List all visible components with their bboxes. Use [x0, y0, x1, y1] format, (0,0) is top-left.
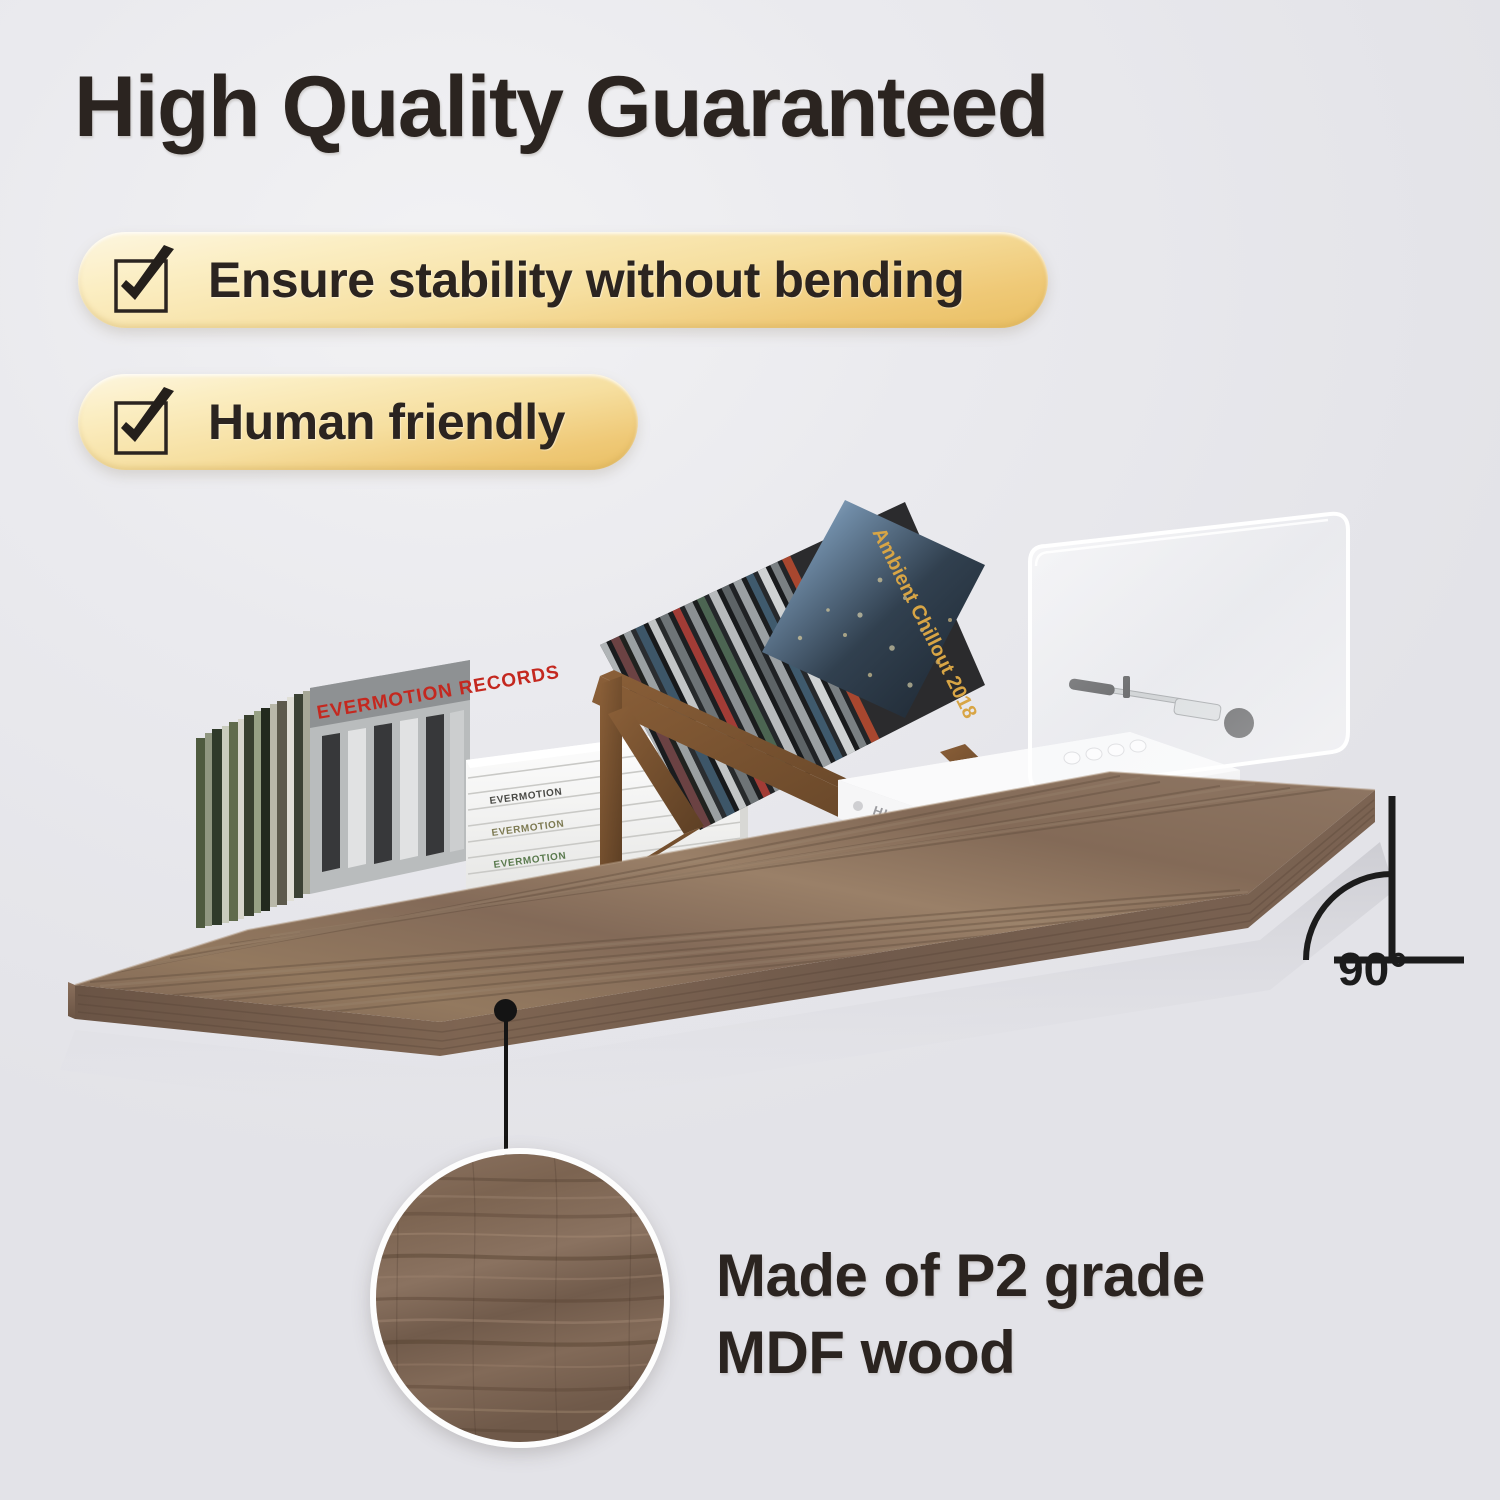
- feature-pill-human-friendly: Human friendly: [78, 374, 638, 470]
- page-title: High Quality Guaranteed: [74, 62, 1404, 152]
- callout-caption: Made of P2 grade MDF wood: [716, 1238, 1356, 1392]
- wood-grain-closeup-image: [376, 1154, 664, 1442]
- callout-caption-line-1: Made of P2 grade: [716, 1238, 1356, 1315]
- angle-label: 90°: [1338, 942, 1408, 996]
- product-scene: EVERMOTION RECORDS EVERMOTION EVERMOTION…: [0, 470, 1500, 1110]
- acrylic-dust-cover: [1030, 514, 1348, 790]
- wood-grain-magnifier: [370, 1148, 670, 1448]
- callout-caption-line-2: MDF wood: [716, 1315, 1356, 1392]
- feature-pill-stability: Ensure stability without bending: [78, 232, 1048, 328]
- floating-shelf-illustration: EVERMOTION RECORDS EVERMOTION EVERMOTION…: [0, 470, 1500, 1110]
- checkbox-checked-icon: [108, 243, 182, 317]
- feature-label-stability: Ensure stability without bending: [208, 251, 964, 309]
- feature-label-human-friendly: Human friendly: [208, 393, 565, 451]
- checkbox-checked-icon: [108, 385, 182, 459]
- callout-leader-line: [504, 1018, 508, 1156]
